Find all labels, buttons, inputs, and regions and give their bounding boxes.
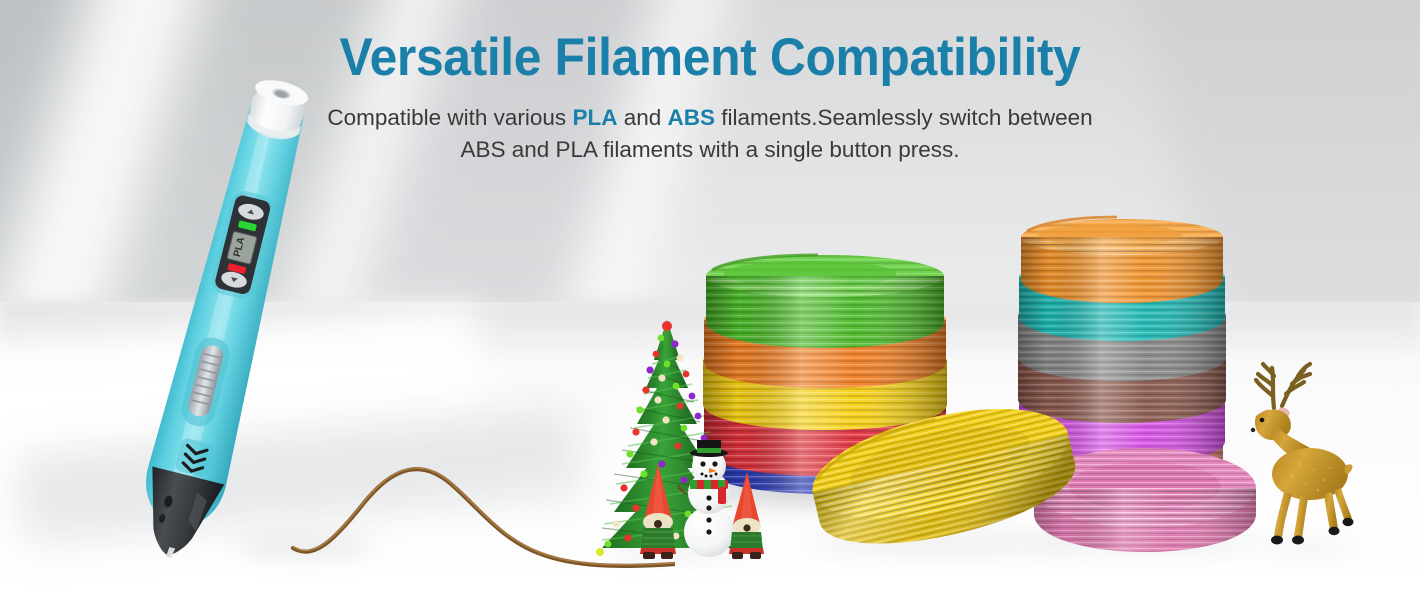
snowman-button (706, 505, 711, 510)
tree-tip-ornament (596, 548, 604, 556)
gnome-boot (750, 552, 761, 559)
reindeer-tail (1344, 464, 1352, 474)
figurine-gnome-right (726, 470, 768, 558)
subtitle-highlight-abs: ABS (667, 105, 715, 130)
gnome-boot (661, 552, 673, 559)
reindeer-hoof (1271, 536, 1283, 545)
loose-coil-yellow (800, 405, 1090, 555)
reindeer-hoof (1329, 527, 1340, 535)
page-title: Versatile Filament Compatibility (43, 30, 1378, 86)
snowman-hat (690, 440, 728, 457)
reindeer-antlers (1256, 364, 1310, 408)
subtitle-text-2: and (617, 105, 667, 130)
gnome-boot (732, 552, 743, 559)
subtitle-text-3: filaments.Seamlessly switch between (715, 105, 1093, 130)
snowman-button (706, 517, 711, 522)
reindeer-eye (1260, 418, 1265, 423)
gnome-coat (730, 532, 763, 550)
snowman-eye-right (712, 461, 717, 466)
subtitle-line-2: ABS and PLA filaments with a single butt… (460, 137, 959, 162)
gnome-nose (743, 524, 750, 531)
snowman-eye-left (700, 461, 705, 466)
gnome-coat (641, 528, 675, 550)
figurine-gnome-left (636, 462, 680, 558)
subtitle-text-1: Compatible with various (327, 105, 572, 130)
product-banner: Versatile Filament Compatibility Compati… (0, 0, 1420, 592)
reindeer-hoof (1343, 518, 1354, 526)
snowman-hat-band (697, 448, 721, 453)
snowman-button (706, 495, 711, 500)
headline-block: Versatile Filament Compatibility Compati… (0, 30, 1420, 166)
snowman-button (706, 529, 711, 534)
figurine-reindeer (1248, 352, 1358, 552)
gnome-nose (654, 520, 662, 528)
reindeer-hoof (1292, 536, 1304, 545)
subtitle-highlight-pla: PLA (572, 105, 617, 130)
page-subtitle: Compatible with various PLA and ABS fila… (270, 102, 1150, 166)
coil-ring-orange-top (1021, 217, 1223, 303)
gnome-boot (643, 552, 655, 559)
reindeer-muzzle (1251, 428, 1255, 432)
